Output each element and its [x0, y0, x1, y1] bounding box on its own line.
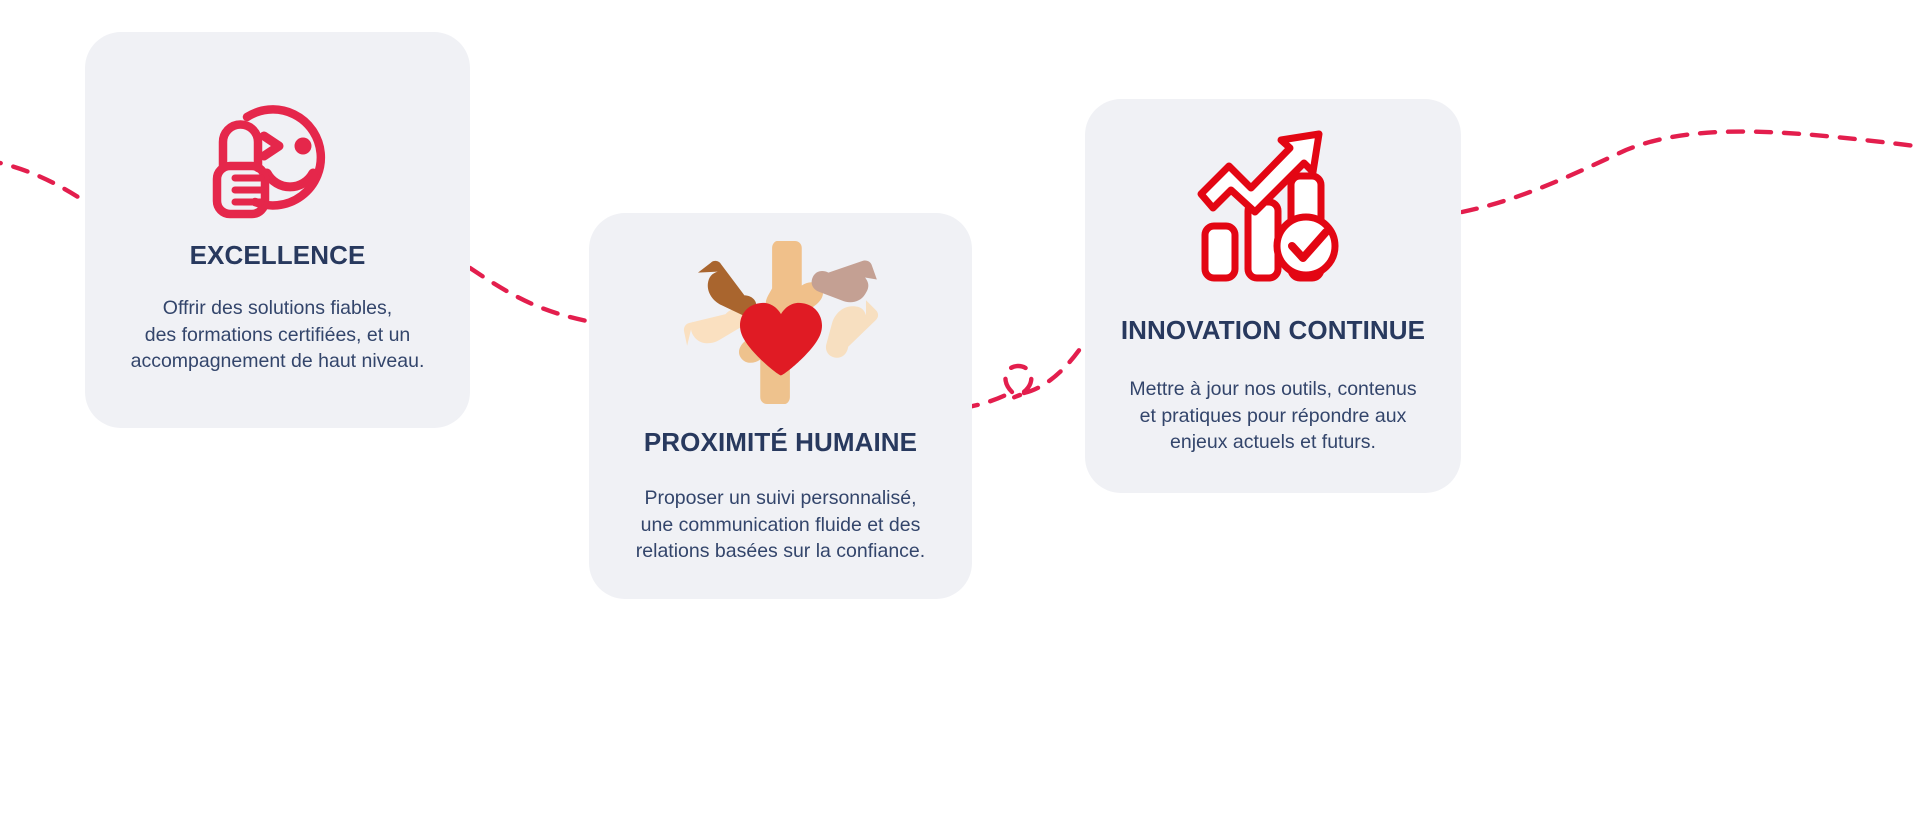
hands-around-heart-icon	[681, 239, 881, 407]
card-body-line: relations basées sur la confiance.	[636, 538, 925, 565]
card-body-line: une communication fluide et des	[636, 512, 925, 539]
connector-segment-right	[1462, 132, 1920, 212]
connector-segment-left	[0, 160, 92, 206]
winking-face-certificate-icon	[203, 84, 353, 224]
card-body-line: Mettre à jour nos outils, contenus	[1129, 376, 1416, 403]
card-body-line: accompagnement de haut niveau.	[131, 348, 425, 375]
hand-bottom-left	[683, 309, 744, 345]
card-body: Mettre à jour nos outils, contenus et pr…	[1129, 376, 1416, 456]
connector-loop	[1005, 366, 1031, 398]
card-title: INNOVATION CONTINUE	[1121, 315, 1425, 346]
card-body-line: et pratiques pour répondre aux	[1129, 403, 1416, 430]
card-body-line: Offrir des solutions fiables,	[131, 295, 425, 322]
check-circle	[1277, 217, 1335, 275]
card-innovation-continue[interactable]: INNOVATION CONTINUE Mettre à jour nos ou…	[1085, 99, 1461, 493]
growth-chart-arrow-check-icon	[1193, 126, 1353, 289]
card-title: EXCELLENCE	[190, 240, 366, 271]
hand-right	[825, 300, 877, 357]
infographic-canvas: EXCELLENCE Offrir des solutions fiables,…	[0, 0, 1920, 830]
connector-segment-1-2	[470, 268, 592, 322]
card-title: PROXIMITÉ HUMAINE	[644, 427, 917, 458]
card-body: Proposer un suivi personnalisé, une comm…	[636, 485, 925, 565]
card-excellence[interactable]: EXCELLENCE Offrir des solutions fiables,…	[85, 32, 470, 428]
hand-left	[697, 261, 755, 316]
card-body-line: Proposer un suivi personnalisé,	[636, 485, 925, 512]
card-body-line: des formations certifiées, et un	[131, 322, 425, 349]
connector-segment-2-3b	[1024, 340, 1086, 393]
card-body: Offrir des solutions fiables, des format…	[131, 295, 425, 375]
card-body-line: enjeux actuels et futurs.	[1129, 429, 1416, 456]
card-proximite-humaine[interactable]: PROXIMITÉ HUMAINE Proposer un suivi pers…	[589, 213, 972, 599]
chart-bar-1	[1205, 226, 1235, 278]
